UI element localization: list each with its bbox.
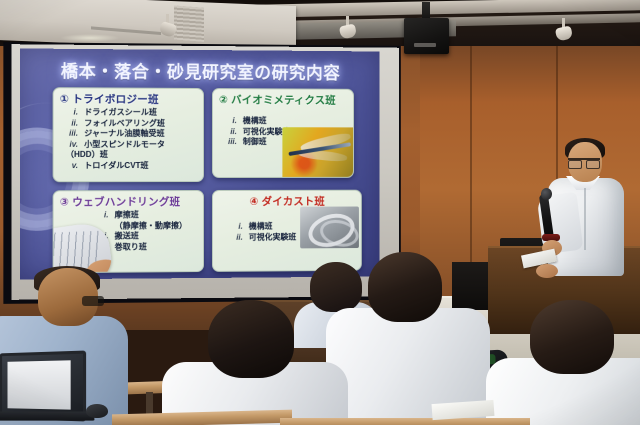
list-item: i.ドライガスシール班 <box>54 107 203 118</box>
audience-head <box>368 252 442 322</box>
list-item: i.機構班 <box>213 116 353 127</box>
projected-slide: 橋本・落合・砂見研究室の研究内容 ① トライボロジー班 i.ドライガスシール班 … <box>20 48 380 279</box>
panel-1-number: ① <box>60 93 69 105</box>
desk <box>112 410 292 425</box>
audience-member-3 <box>340 252 470 425</box>
slide-title: 橋本・落合・砂見研究室の研究内容 <box>20 57 380 84</box>
vent-grille <box>174 6 204 42</box>
list-item-continuation: （静摩擦・動摩擦） <box>84 220 203 231</box>
panel-2-title: バイオミメティクス班 <box>231 94 336 106</box>
ceiling-speaker <box>404 18 449 54</box>
panel-3-title: ウェブハンドリング班 <box>72 196 180 208</box>
audience-member-4 <box>500 300 640 425</box>
laptop-screen-content <box>8 360 71 409</box>
shirt-placket <box>584 188 586 250</box>
audience-head <box>208 300 294 378</box>
laptop-keyboard[interactable] <box>0 411 95 420</box>
list-item-continuation: （HDD）班 <box>54 150 203 161</box>
panel-1-list: i.ドライガスシール班 ii.フォイルベアリング班 iii.ジャーナル油膜軸受班… <box>54 107 203 171</box>
diecast-part-photo <box>300 207 359 249</box>
glasses-icon <box>82 296 104 306</box>
desk <box>280 418 530 425</box>
list-item: iii.ジャーナル油膜軸受班 <box>54 129 203 140</box>
panel-3-number: ③ <box>60 196 69 208</box>
slide-panel-2: ② バイオミメティクス班 i.機構班 ii.可視化実験班 iii.制御班 <box>212 88 354 178</box>
mouse[interactable] <box>86 404 108 418</box>
light-glare <box>60 34 120 42</box>
presenter-hand <box>536 264 558 278</box>
panel-1-heading: ① トライボロジー班 <box>54 88 203 108</box>
microphone-head <box>541 188 552 200</box>
list-item: v.トロイダルCVT班 <box>54 160 203 171</box>
list-item: iv.小型スピンドルモータ <box>54 139 203 150</box>
presentation-room-photo: 橋本・落合・砂見研究室の研究内容 ① トライボロジー班 i.ドライガスシール班 … <box>0 0 640 425</box>
dragonfly-photo <box>282 127 354 178</box>
list-item: ii.フォイルベアリング班 <box>54 118 203 129</box>
slide-panel-1: ① トライボロジー班 i.ドライガスシール班 ii.フォイルベアリング班 iii… <box>53 87 204 182</box>
audience-head <box>530 300 614 374</box>
presenter <box>540 136 632 276</box>
panel-3-heading: ③ ウェブハンドリング班 <box>54 191 203 211</box>
panel-4-number: ④ <box>250 196 259 208</box>
audience-member-2 <box>172 300 332 425</box>
glasses-icon <box>568 158 600 167</box>
list-item: i.摩擦班 <box>84 210 203 221</box>
speaker-logo <box>414 43 436 47</box>
slide-panel-3: ③ ウェブハンドリング班 i.摩擦班 （静摩擦・動摩擦） i.搬送班 ii.巻取… <box>53 190 204 273</box>
panel-2-number: ② <box>219 94 228 106</box>
panel-1-title: トライボロジー班 <box>72 93 159 105</box>
panel-2-heading: ② バイオミメティクス班 <box>213 89 353 109</box>
